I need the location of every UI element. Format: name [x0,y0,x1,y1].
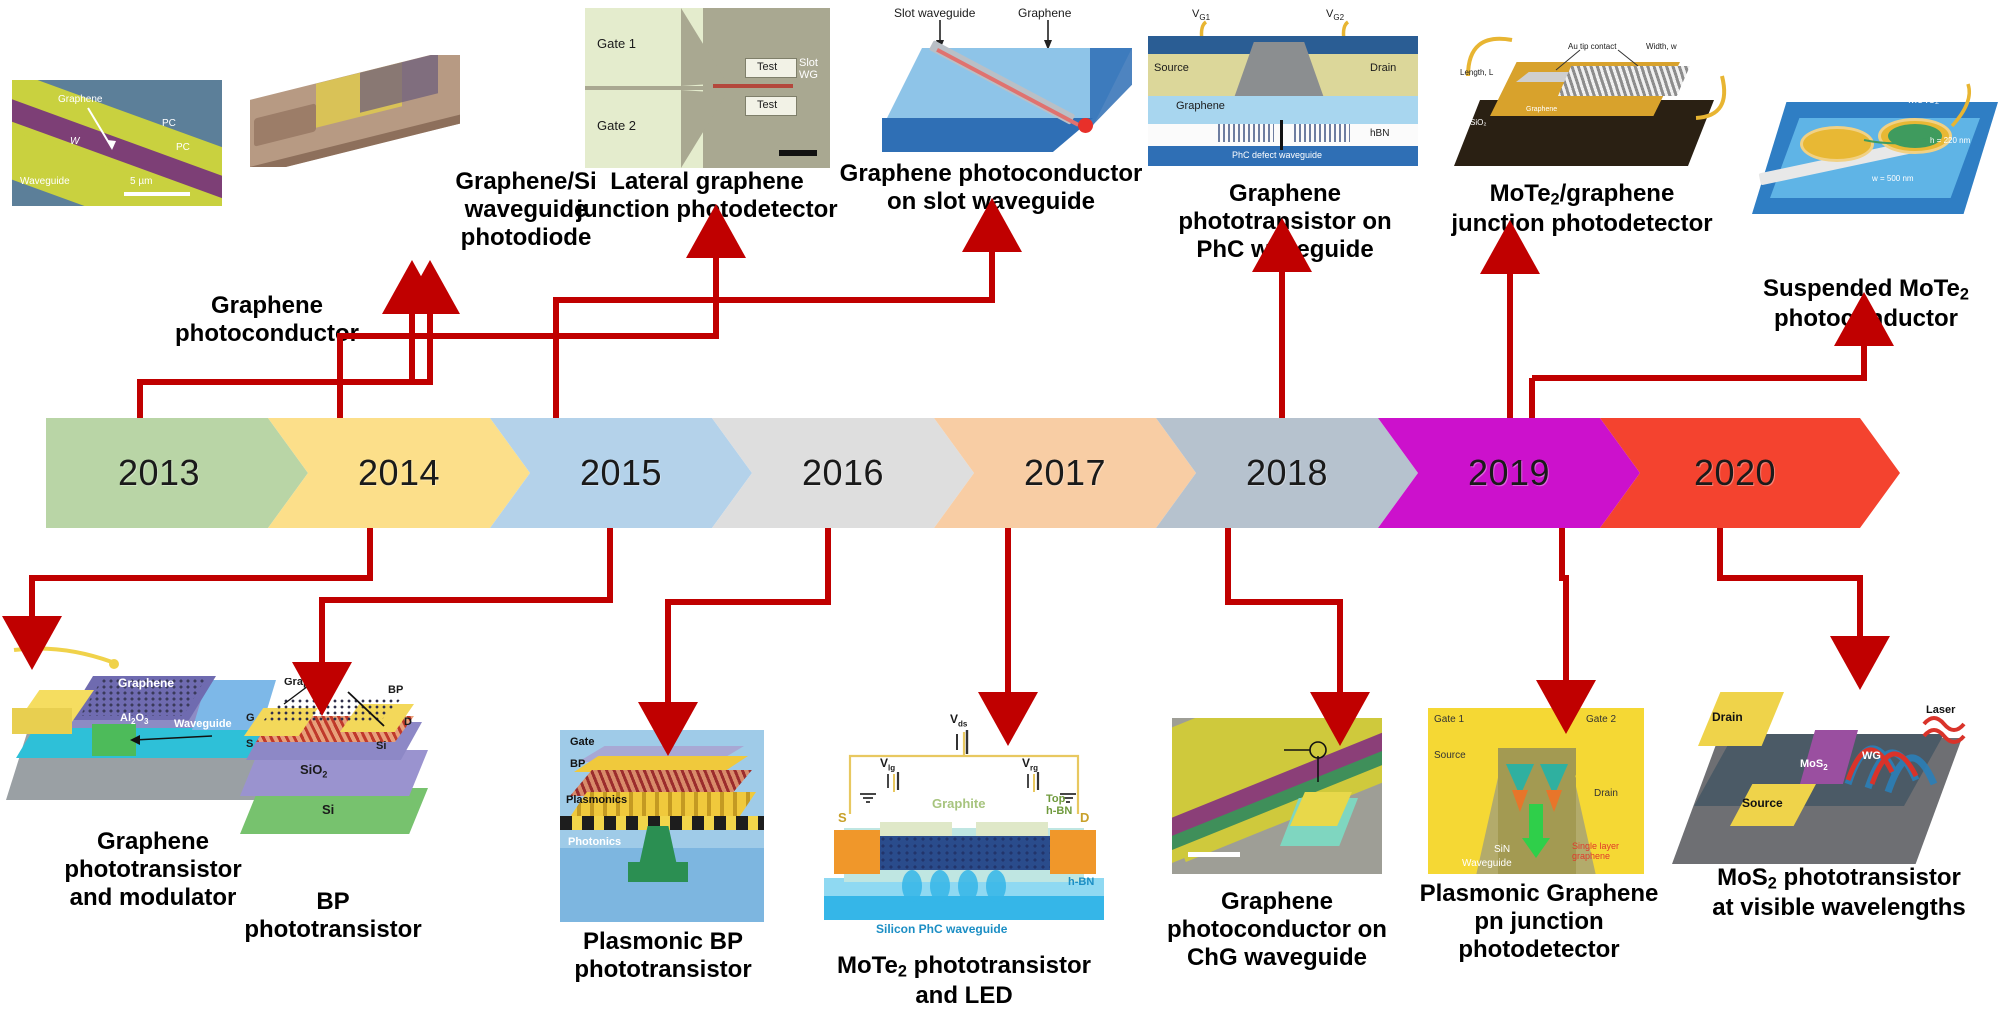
label-sin: SiN [1494,844,1510,855]
label-pc-1: PC [162,118,176,129]
label-laser: Laser [1926,704,1955,716]
panel-graphene-chg [1172,718,1382,874]
label-pc-2: PC [176,142,190,153]
caption-graphene-chg: Graphene photoconductor on ChG waveguide [1152,888,1402,971]
panel-graphene-si-photodiode [250,55,460,167]
caption-mote2-graphene: MoTe2/graphene junction photodetector [1432,180,1732,237]
label-wg-mos2: WG [1862,750,1881,762]
label-graphene-mod: Graphene [118,676,174,690]
label-slot-waveguide: Slot waveguide [894,6,975,20]
label-drain-mos2: Drain [1712,710,1743,724]
label-d-mote2: D [1080,810,1089,825]
caption-line-mote2: MoTe2/graphene [1432,180,1732,210]
timeline-figure: Graphene PC PC W Waveguide 5 µm Gate 1 G… [0,0,2001,1026]
caption-plasmonic-bp: Plasmonic BP phototransistor [548,928,778,984]
panel-phc-waveguide: VG1 VG2 Source Drain Graphene hBN PhC de… [1148,8,1418,168]
label-slot-wg: Slot WG [799,58,818,81]
label-gate-plasmonic: Gate [570,736,594,748]
year-label: 2016 [802,452,884,494]
year-label: 2014 [358,452,440,494]
caption-mote2-led: MoTe2 phototransistor and LED [812,952,1116,1009]
label-source-pn: Source [1434,750,1466,761]
caption-slot-waveguide: Graphene photoconductor on slot waveguid… [836,160,1146,216]
year-label: 2019 [1468,452,1550,494]
label-waveguide-mod: Waveguide [174,718,232,730]
timeline-bar: 2013 2014 2015 2016 2017 2018 2019 2020 [46,418,1961,528]
label-graphene-slot: Graphene [1018,6,1071,20]
caption-phc-waveguide: Graphene phototransistor on PhC waveguid… [1160,180,1410,263]
caption-suspended-mote2: Suspended MoTe2 photoconductor [1736,275,1996,332]
caption-graphene-photoconductor: Graphene photoconductor [132,292,402,348]
panel-slot-waveguide: Slot waveguide Graphene [882,6,1132,166]
year-label: 2017 [1024,452,1106,494]
label-bp-plasmonic: BP [570,758,585,770]
caption-lateral-junction: Lateral graphene junction photodetector [562,168,852,224]
label-hbn-mote2: h-BN [1068,876,1094,888]
caption-mos2-visible: MoS2 phototransistor at visible waveleng… [1684,864,1994,921]
label-s-mote2: S [838,810,847,825]
label-s: S [246,738,253,750]
label-single-layer-graphene: Single layer graphene [1572,842,1619,862]
label-drain: Drain [1370,62,1396,74]
panel-suspended-mote2: MoTe₂ h = 220 nm w = 500 nm [1752,78,1998,214]
label-width-w: Width, w [1646,42,1677,51]
panel-lateral-junction: Gate 1 Gate 2 Test Test Slot WG [585,8,830,168]
label-graphene: Graphene [58,94,102,105]
year-label: 2013 [118,452,200,494]
caption-line-mote2-led: MoTe2 phototransistor [812,952,1116,982]
label-vrg: Vrg [1022,756,1038,772]
year-label: 2015 [580,452,662,494]
label-bp: BP [388,684,403,696]
label-length-l: Length, L [1460,68,1493,77]
year-label: 2018 [1246,452,1328,494]
label-source-mos2: Source [1742,796,1783,810]
panel-mote2-graphene: Length, L Au tip contact Width, w SiO₂ G… [1450,20,1730,180]
panel-plasmonic-graphene-pn: Gate 1 Gate 2 Source Drain SiN Waveguide… [1428,708,1644,874]
label-gate-2: Gate 2 [597,118,636,133]
scale-bar-lateral [779,150,817,156]
label-phc-defect-waveguide: PhC defect waveguide [1232,150,1322,160]
label-gate-1: Gate 1 [597,36,636,51]
label-graphene-bp: Graphene [284,678,335,688]
label-au-tip-contact: Au tip contact [1568,42,1616,51]
label-graphite: Graphite [932,796,985,811]
panel-bp-phototransistor: Graphene BP G S D Si SiO2 Si [232,678,428,850]
caption-bp-phototransistor: BP phototransistor [218,888,448,944]
label-scale-bar-text: 5 µm [130,176,152,187]
label-photonics: Photonics [568,836,621,848]
timeline-year-2020[interactable]: 2020 [1600,418,1900,528]
label-mote2-susp: MoTe₂ [1908,94,1939,106]
red-dot-marker [1078,118,1093,133]
caption-line-susp-mote2: Suspended MoTe2 [1736,275,1996,305]
label-vds: Vds [950,712,967,728]
label-w: W [70,136,79,147]
label-h-220nm: h = 220 nm [1930,136,1970,145]
caption-line-mos2: MoS2 phototransistor [1684,864,1994,894]
label-graphene-phc: Graphene [1176,100,1225,112]
label-silicon-phc-waveguide: Silicon PhC waveguide [876,922,1007,936]
label-hbn: hBN [1370,128,1389,139]
label-top-hbn: Top h-BN [1046,794,1072,817]
label-g: G [246,712,255,724]
panel-plasmonic-bp: Gate BP Plasmonics Photonics [560,730,764,922]
caption-plasmonic-graphene-pn: Plasmonic Graphene pn junction photodete… [1396,880,1682,963]
label-sio2-mote2: SiO₂ [1470,118,1486,127]
label-graphene-mote2: Graphene [1526,106,1557,113]
label-drain-pn: Drain [1594,788,1618,799]
panel-mos2-visible: Drain Source WG MoS2 Laser [1672,688,1972,880]
year-label: 2020 [1694,452,1776,494]
label-vlg: Vlg [880,756,895,772]
label-al2o3: Al2O3 [120,712,148,726]
panel-mote2-led: Vds Vlg Vrg Graphite Top h-BN S D h-BN S… [824,710,1104,944]
panel-graphene-photoconductor: Graphene PC PC W Waveguide 5 µm [12,80,222,206]
label-mos2: MoS2 [1800,758,1828,772]
label-sio2-bp: SiO2 [300,762,327,780]
label-waveguide: Waveguide [20,176,70,187]
label-si-top: Si [376,740,386,752]
label-plasmonics: Plasmonics [566,794,627,806]
scale-bar-chg [1188,852,1240,857]
label-si-bottom: Si [322,802,334,817]
label-source: Source [1154,62,1189,74]
label-d: D [404,716,412,728]
label-test-2: Test [757,99,777,111]
label-test-1: Test [757,61,777,73]
label-waveguide-pn: Waveguide [1462,858,1512,869]
scale-bar [124,192,190,196]
label-gate1-pn: Gate 1 [1434,714,1464,725]
label-w-500nm: w = 500 nm [1872,174,1914,183]
label-gate2-pn: Gate 2 [1586,714,1616,725]
